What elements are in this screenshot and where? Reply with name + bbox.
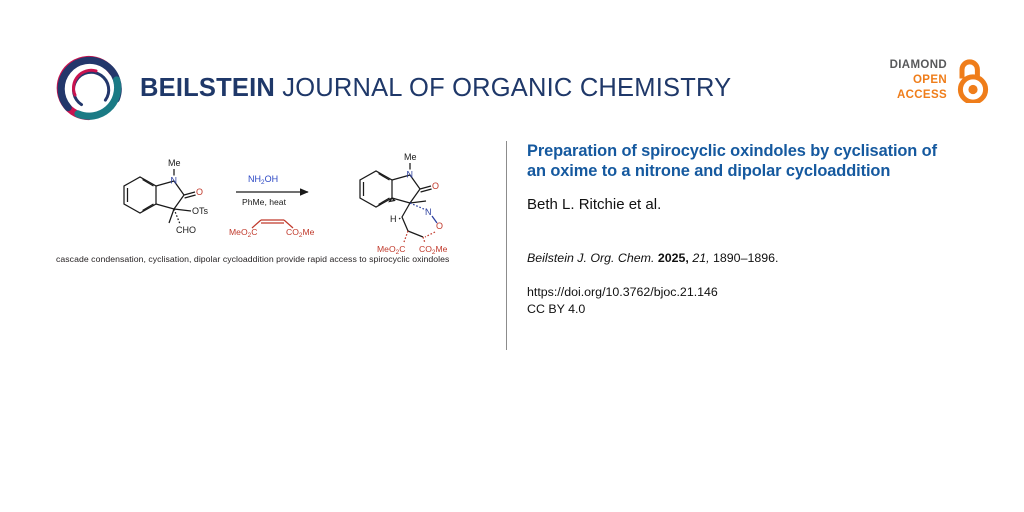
reaction-arrow-and-conditions: NH2OH PhMe, heat MeO2C CO2Me [229,174,315,239]
svg-text:N: N [407,170,414,180]
svg-text:O: O [436,221,443,231]
journal-wordmark-light: JOURNAL OF ORGANIC CHEMISTRY [275,74,731,102]
citation-volume: 21, [692,251,709,265]
open-access-badge-text: DIAMOND OPEN ACCESS [890,58,947,102]
svg-text:H: H [390,214,397,224]
beilstein-circular-swoosh-logo-icon [56,55,122,121]
open-access-unlocked-padlock-icon [956,58,990,103]
svg-text:O: O [196,187,203,197]
open-access-line-open: OPEN [890,73,947,88]
svg-text:N: N [171,176,178,186]
open-access-line-access: ACCESS [890,88,947,103]
reaction-scheme-figure: .bond { stroke:#1a1a1a; stroke-width:1.2… [48,134,468,254]
article-license[interactable]: CC BY 4.0 [527,301,967,319]
article-authors: Beth L. Ritchie et al. [527,196,967,214]
svg-text:Me: Me [404,152,417,162]
citation-year: 2025, [658,251,689,265]
svg-text:N: N [425,207,432,217]
article-metadata-block: Preparation of spirocyclic oxindoles by … [527,141,967,319]
article-citation: Beilstein J. Org. Chem. 2025, 21, 1890–1… [527,250,967,266]
svg-text:NH2OH: NH2OH [248,174,278,186]
masthead: BEILSTEIN JOURNAL OF ORGANIC CHEMISTRY D… [0,0,1024,130]
svg-text:CO2Me: CO2Me [286,227,315,239]
svg-text:OTs: OTs [192,206,209,216]
journal-wordmark: BEILSTEIN JOURNAL OF ORGANIC CHEMISTRY [140,74,731,102]
svg-text:O: O [432,181,439,191]
journal-wordmark-bold: BEILSTEIN [140,74,275,102]
article-doi-link[interactable]: https://doi.org/10.3762/bjoc.21.146 [527,284,967,302]
graphical-abstract-caption: cascade condensation, cyclisation, dipol… [56,254,496,266]
starting-material-structure: N Me O OTs CHO [124,158,209,235]
open-access-line-diamond: DIAMOND [890,58,947,73]
graphical-abstract-panel: .bond { stroke:#1a1a1a; stroke-width:1.2… [0,130,500,360]
product-structure: N Me O N O H MeO2C CO2Me [360,152,448,256]
article-title[interactable]: Preparation of spirocyclic oxindoles by … [527,141,957,182]
column-divider [506,141,507,350]
svg-text:PhMe, heat: PhMe, heat [242,197,287,207]
journal-brand-lockup[interactable]: BEILSTEIN JOURNAL OF ORGANIC CHEMISTRY [56,55,731,121]
citation-pages: 1890–1896. [710,251,779,265]
svg-text:Me: Me [168,158,181,168]
svg-text:MeO2C: MeO2C [229,227,257,239]
diamond-open-access-badge[interactable]: DIAMOND OPEN ACCESS [890,58,990,103]
svg-text:CHO: CHO [176,225,196,235]
citation-journal: Beilstein J. Org. Chem. [527,251,654,265]
